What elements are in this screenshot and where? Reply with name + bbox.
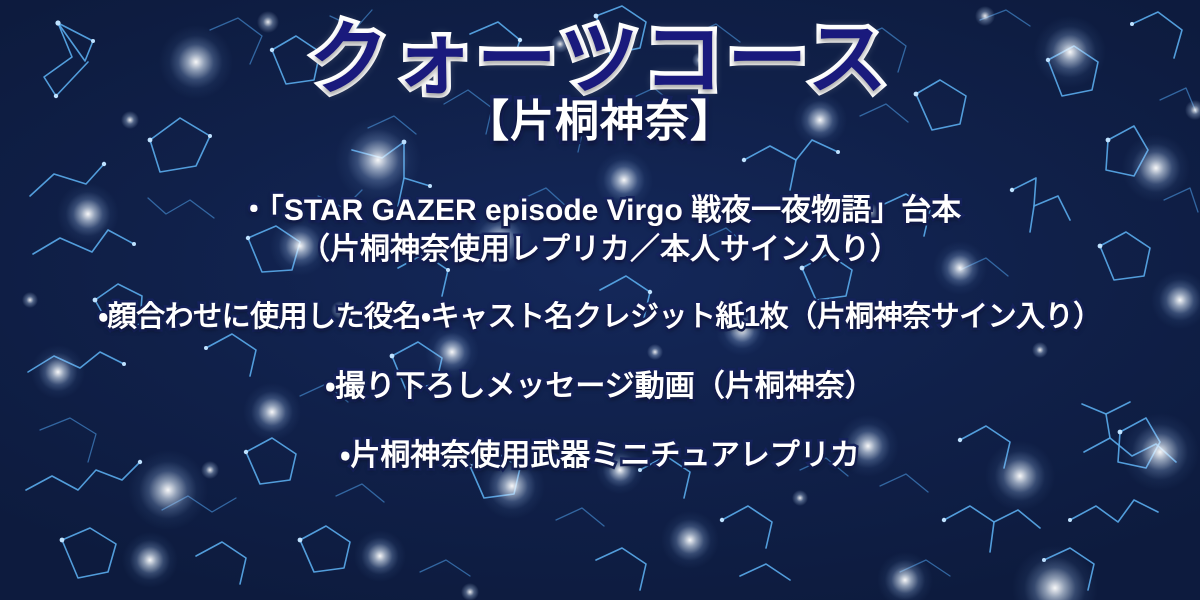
list-item: ・撮り下ろしメッセージ動画（片桐神奈） [0, 368, 1200, 406]
list-item: ・顔合わせに使用した役名・キャスト名クレジット紙1枚（片桐神奈サイン入り） [0, 299, 1200, 336]
list-item-line1: ・片桐神奈使用武器ミニチュアレプリカ [340, 439, 860, 472]
list-item: ・片桐神奈使用武器ミニチュアレプリカ [0, 437, 1200, 475]
poster-canvas: クォーツコース 【片桐神奈】 ・「STAR GAZER episode Virg… [0, 0, 1200, 600]
list-item-line2: （片桐神奈使用レプリカ／本人サイン入り） [0, 231, 1200, 269]
list-item: ・「STAR GAZER episode Virgo 戦夜一夜物語」台本 （片桐… [0, 192, 1200, 269]
page-title: クォーツコース [0, 18, 1200, 102]
poster-content: クォーツコース 【片桐神奈】 ・「STAR GAZER episode Virg… [0, 0, 1200, 600]
benefit-list: ・「STAR GAZER episode Virgo 戦夜一夜物語」台本 （片桐… [0, 192, 1200, 475]
list-item-line1: ・撮り下ろしメッセージ動画（片桐神奈） [325, 370, 875, 403]
list-item-line1: ・顔合わせに使用した役名・キャスト名クレジット紙1枚（片桐神奈サイン入り） [98, 301, 1101, 333]
list-item-line1: ・「STAR GAZER episode Virgo 戦夜一夜物語」台本 [239, 194, 961, 227]
page-subtitle: 【片桐神奈】 [0, 98, 1200, 146]
title-block: クォーツコース 【片桐神奈】 [0, 0, 1200, 146]
